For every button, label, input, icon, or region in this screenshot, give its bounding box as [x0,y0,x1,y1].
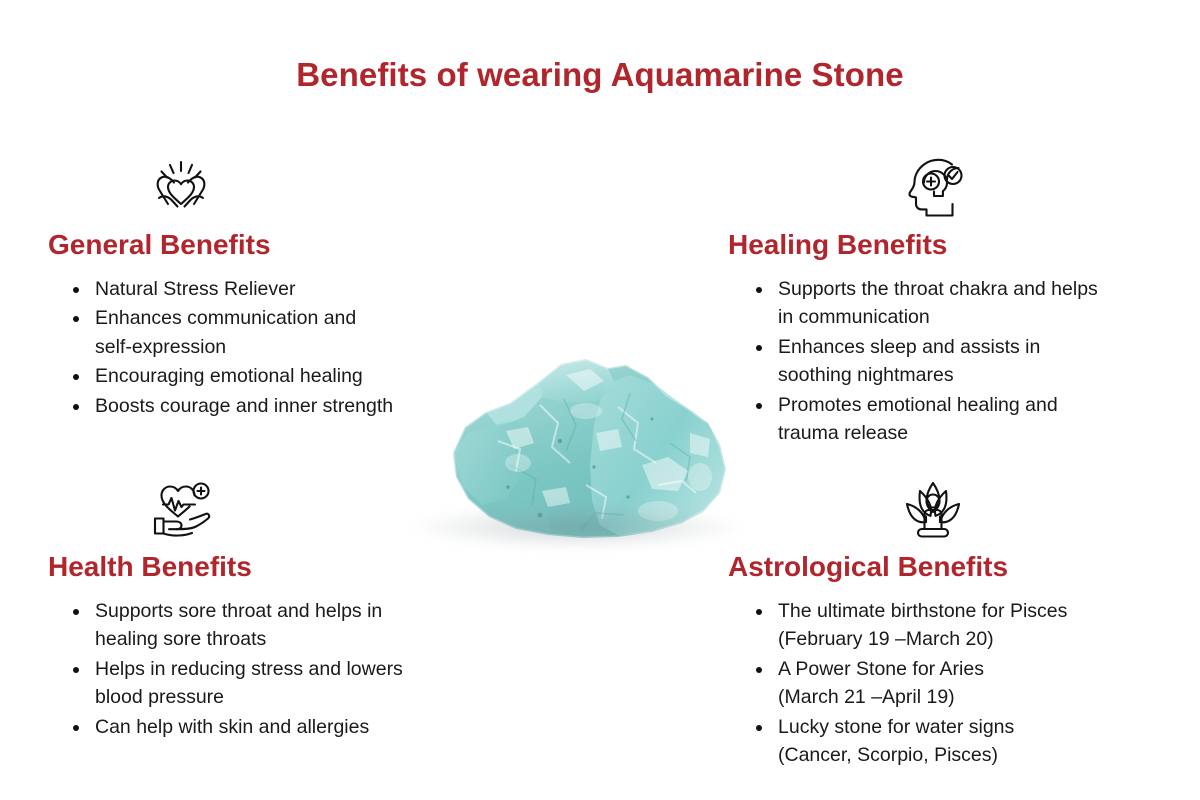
list-item-line1: Can help with skin and allergies [95,716,369,738]
list-item-line1: Enhances sleep and assists in [778,336,1040,358]
list-item: Supports sore throat and helps in healin… [48,597,518,654]
list-item-line1: Encouraging emotional healing [95,365,363,387]
benefit-list: Supports sore throat and helps in healin… [48,597,518,742]
list-item: Enhances sleep and assists in soothing n… [728,333,1198,390]
list-item-line2: (Cancer, Scorpio, Pisces) [778,741,1198,770]
head-brain-health-icon [900,148,1198,220]
list-item-line2: soothing nightmares [778,361,1198,390]
stone-shadow [412,505,742,549]
list-item-line1: Boosts courage and inner strength [95,395,393,417]
list-item-line2: healing sore throats [95,625,518,654]
lotus-meditation-icon [900,470,1198,542]
list-item-line1: Helps in reducing stress and lowers [95,658,403,680]
list-item-line2: (March 21 –April 19) [778,683,1198,712]
list-item: Supports the throat chakra and helps in … [728,275,1198,332]
list-item-line2: trauma release [778,419,1198,448]
section-astrological-benefits: Astrological Benefits The ultimate birth… [728,470,1198,771]
list-item-line1: Supports the throat chakra and helps [778,278,1098,300]
list-item-line1: The ultimate birthstone for Pisces [778,600,1067,622]
list-item-line1: Supports sore throat and helps in [95,600,382,622]
list-item-line2: (February 19 –March 20) [778,625,1198,654]
list-item-line1: A Power Stone for Aries [778,658,984,680]
list-item: Lucky stone for water signs (Cancer, Sco… [728,713,1198,770]
benefit-list: The ultimate birthstone for Pisces (Febr… [728,597,1198,770]
list-item-line1: Enhances communication and [95,307,356,329]
list-item: Natural Stress Reliever [48,275,518,304]
hands-heart-icon [146,148,518,220]
list-item: Can help with skin and allergies [48,713,518,742]
benefit-list: Supports the throat chakra and helps in … [728,275,1198,448]
page-title: Benefits of wearing Aquamarine Stone [0,56,1200,94]
section-title: General Benefits [48,230,518,261]
list-item-line2: in communication [778,303,1198,332]
section-title: Healing Benefits [728,230,1198,261]
list-item: Helps in reducing stress and lowers bloo… [48,655,518,712]
list-item-line1: Lucky stone for water signs [778,716,1014,738]
list-item-line2: blood pressure [95,683,518,712]
list-item: A Power Stone for Aries (March 21 –April… [728,655,1198,712]
list-item: The ultimate birthstone for Pisces (Febr… [728,597,1198,654]
list-item-line1: Natural Stress Reliever [95,278,295,300]
section-title: Astrological Benefits [728,552,1198,583]
infographic-page: Benefits of wearing Aquamarine Stone [0,0,1200,800]
list-item: Promotes emotional healing and trauma re… [728,391,1198,448]
list-item-line1: Promotes emotional healing and [778,394,1058,416]
section-healing-benefits: Healing Benefits Supports the throat cha… [728,148,1198,449]
aquamarine-stone-photo [390,345,770,575]
